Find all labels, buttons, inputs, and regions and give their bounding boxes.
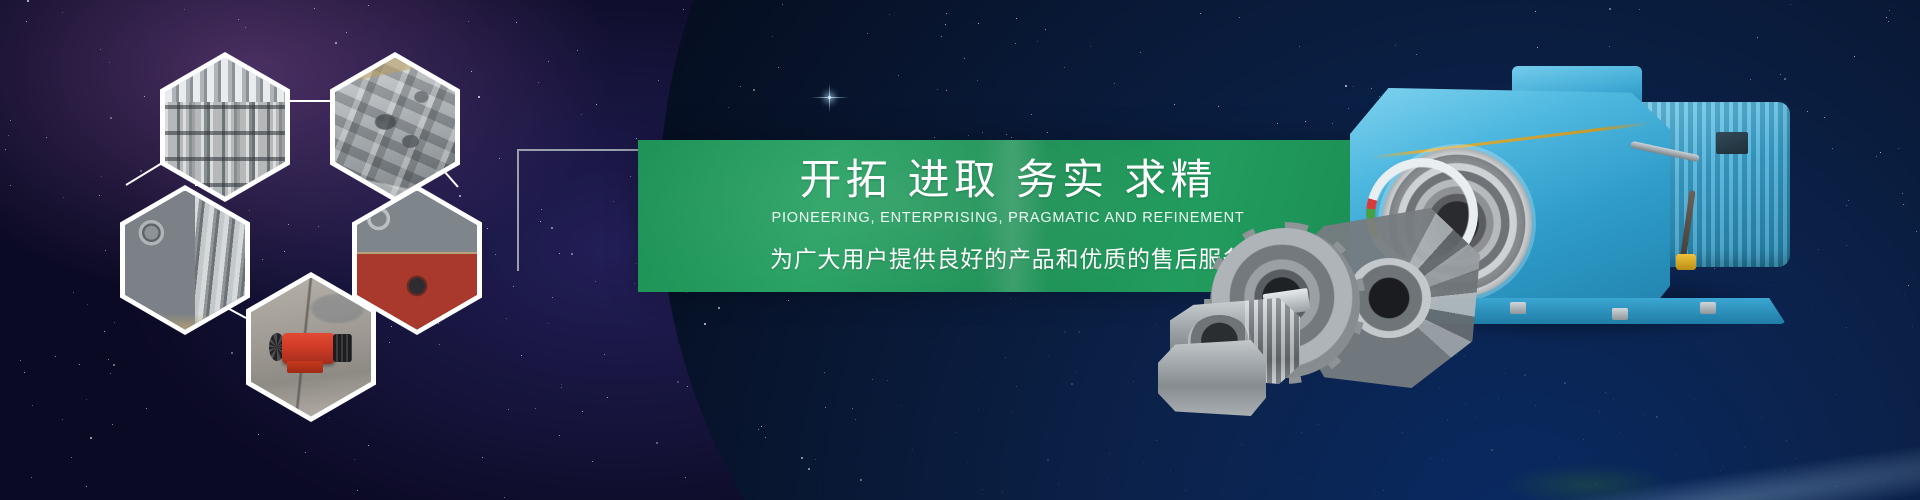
base-bolt: [1612, 308, 1628, 320]
bright-star-icon: [828, 96, 831, 99]
hero-banner: 开拓 进取 务实 求精 PIONEERING, ENTERPRISING, PR…: [0, 0, 1920, 500]
base-bolt: [1700, 302, 1716, 314]
hexagon-connector-lines: [0, 0, 620, 500]
base-bolt: [1510, 302, 1526, 314]
housing-gold-stripe: [1370, 121, 1650, 158]
cable-connector: [1676, 254, 1696, 270]
slogan-main-text: 开拓 进取 务实 求精: [799, 159, 1216, 201]
motor-nameplate: [1716, 132, 1748, 154]
end-cup-part: [1158, 340, 1266, 416]
hexagon-product-cluster: [0, 0, 620, 500]
product-gearbox-motor[interactable]: [1160, 40, 1920, 400]
